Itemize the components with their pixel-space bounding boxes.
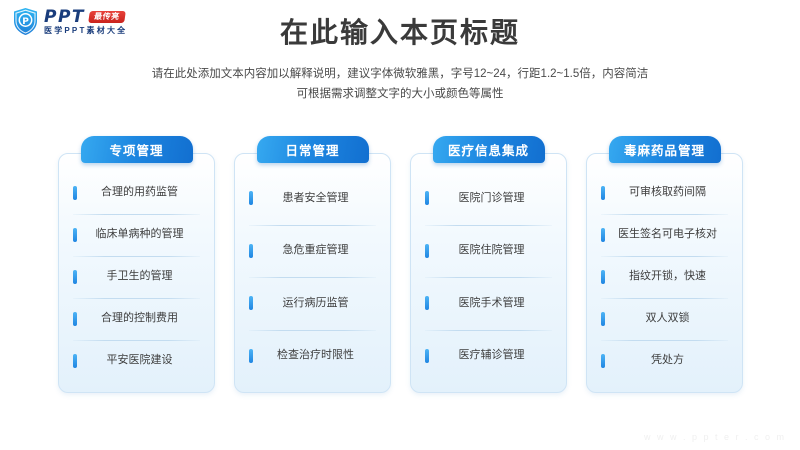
list-item[interactable]: 患者安全管理 bbox=[243, 172, 382, 225]
list-item[interactable]: 凭处方 bbox=[595, 340, 734, 382]
subtitle-line-1: 请在此处添加文本内容加以解释说明，建议字体微软雅黑，字号12~24，行距1.2~… bbox=[0, 64, 800, 84]
card-title-2: 日常管理 bbox=[257, 136, 369, 163]
list-item[interactable]: 临床单病种的管理 bbox=[67, 214, 206, 256]
subtitle-line-2: 可根据需求调整文字的大小或颜色等属性 bbox=[0, 84, 800, 104]
list-item-label: 患者安全管理 bbox=[253, 192, 382, 205]
list-item-label: 医院手术管理 bbox=[429, 297, 558, 310]
list-item[interactable]: 医疗辅诊管理 bbox=[419, 330, 558, 383]
card-body-3: 医院门诊管理 医院住院管理 医院手术管理 医疗辅诊管理 bbox=[410, 153, 567, 393]
item-list-2: 患者安全管理 急危重症管理 运行病历监管 检查治疗时限性 bbox=[243, 172, 382, 382]
list-item[interactable]: 平安医院建设 bbox=[67, 340, 206, 382]
list-item-label: 指纹开锁，快速 bbox=[605, 270, 734, 283]
list-item-label: 可审核取药间隔 bbox=[605, 186, 734, 199]
item-list-3: 医院门诊管理 医院住院管理 医院手术管理 医疗辅诊管理 bbox=[419, 172, 558, 382]
list-item-label: 手卫生的管理 bbox=[77, 270, 206, 283]
list-item-label: 运行病历监管 bbox=[253, 297, 382, 310]
list-item[interactable]: 合理的用药监管 bbox=[67, 172, 206, 214]
list-item[interactable]: 运行病历监管 bbox=[243, 277, 382, 330]
list-item-label: 医院住院管理 bbox=[429, 244, 558, 257]
list-item-label: 合理的控制费用 bbox=[77, 312, 206, 325]
list-item[interactable]: 医院手术管理 bbox=[419, 277, 558, 330]
list-item-label: 平安医院建设 bbox=[77, 354, 206, 367]
card-column-3: 医疗信息集成 医院门诊管理 医院住院管理 医院手术管理 医疗辅诊管理 bbox=[410, 136, 567, 393]
card-body-1: 合理的用药监管 临床单病种的管理 手卫生的管理 合理的控制费用 平安医院建设 bbox=[58, 153, 215, 393]
list-item[interactable]: 医生签名可电子核对 bbox=[595, 214, 734, 256]
card-title-4: 毒麻药品管理 bbox=[609, 136, 721, 163]
list-item[interactable]: 指纹开锁，快速 bbox=[595, 256, 734, 298]
item-list-1: 合理的用药监管 临床单病种的管理 手卫生的管理 合理的控制费用 平安医院建设 bbox=[67, 172, 206, 382]
card-body-2: 患者安全管理 急危重症管理 运行病历监管 检查治疗时限性 bbox=[234, 153, 391, 393]
list-item-label: 双人双锁 bbox=[605, 312, 734, 325]
list-item-label: 检查治疗时限性 bbox=[253, 349, 382, 362]
list-item[interactable]: 医院门诊管理 bbox=[419, 172, 558, 225]
watermark: w w w . p p t e r . c o m bbox=[644, 432, 786, 442]
list-item-label: 临床单病种的管理 bbox=[77, 228, 206, 241]
list-item[interactable]: 手卫生的管理 bbox=[67, 256, 206, 298]
card-group: 专项管理 合理的用药监管 临床单病种的管理 手卫生的管理 合理的控制费用 bbox=[58, 136, 748, 393]
card-column-1: 专项管理 合理的用药监管 临床单病种的管理 手卫生的管理 合理的控制费用 bbox=[58, 136, 215, 393]
list-item[interactable]: 合理的控制费用 bbox=[67, 298, 206, 340]
page-title: 在此输入本页标题 bbox=[0, 18, 800, 49]
list-item[interactable]: 检查治疗时限性 bbox=[243, 330, 382, 383]
card-title-3: 医疗信息集成 bbox=[433, 136, 545, 163]
list-item-label: 医疗辅诊管理 bbox=[429, 349, 558, 362]
card-title-1: 专项管理 bbox=[81, 136, 193, 163]
item-list-4: 可审核取药间隔 医生签名可电子核对 指纹开锁，快速 双人双锁 凭处方 bbox=[595, 172, 734, 382]
list-item[interactable]: 可审核取药间隔 bbox=[595, 172, 734, 214]
list-item[interactable]: 双人双锁 bbox=[595, 298, 734, 340]
list-item[interactable]: 急危重症管理 bbox=[243, 225, 382, 278]
card-column-2: 日常管理 患者安全管理 急危重症管理 运行病历监管 检查治疗时限性 bbox=[234, 136, 391, 393]
list-item[interactable]: 医院住院管理 bbox=[419, 225, 558, 278]
card-body-4: 可审核取药间隔 医生签名可电子核对 指纹开锁，快速 双人双锁 凭处方 bbox=[586, 153, 743, 393]
card-column-4: 毒麻药品管理 可审核取药间隔 医生签名可电子核对 指纹开锁，快速 双人双锁 bbox=[586, 136, 743, 393]
page-subtitle: 请在此处添加文本内容加以解释说明，建议字体微软雅黑，字号12~24，行距1.2~… bbox=[0, 64, 800, 104]
list-item-label: 急危重症管理 bbox=[253, 244, 382, 257]
list-item-label: 合理的用药监管 bbox=[77, 186, 206, 199]
list-item-label: 医生签名可电子核对 bbox=[605, 228, 734, 241]
list-item-label: 凭处方 bbox=[605, 354, 734, 367]
list-item-label: 医院门诊管理 bbox=[429, 192, 558, 205]
